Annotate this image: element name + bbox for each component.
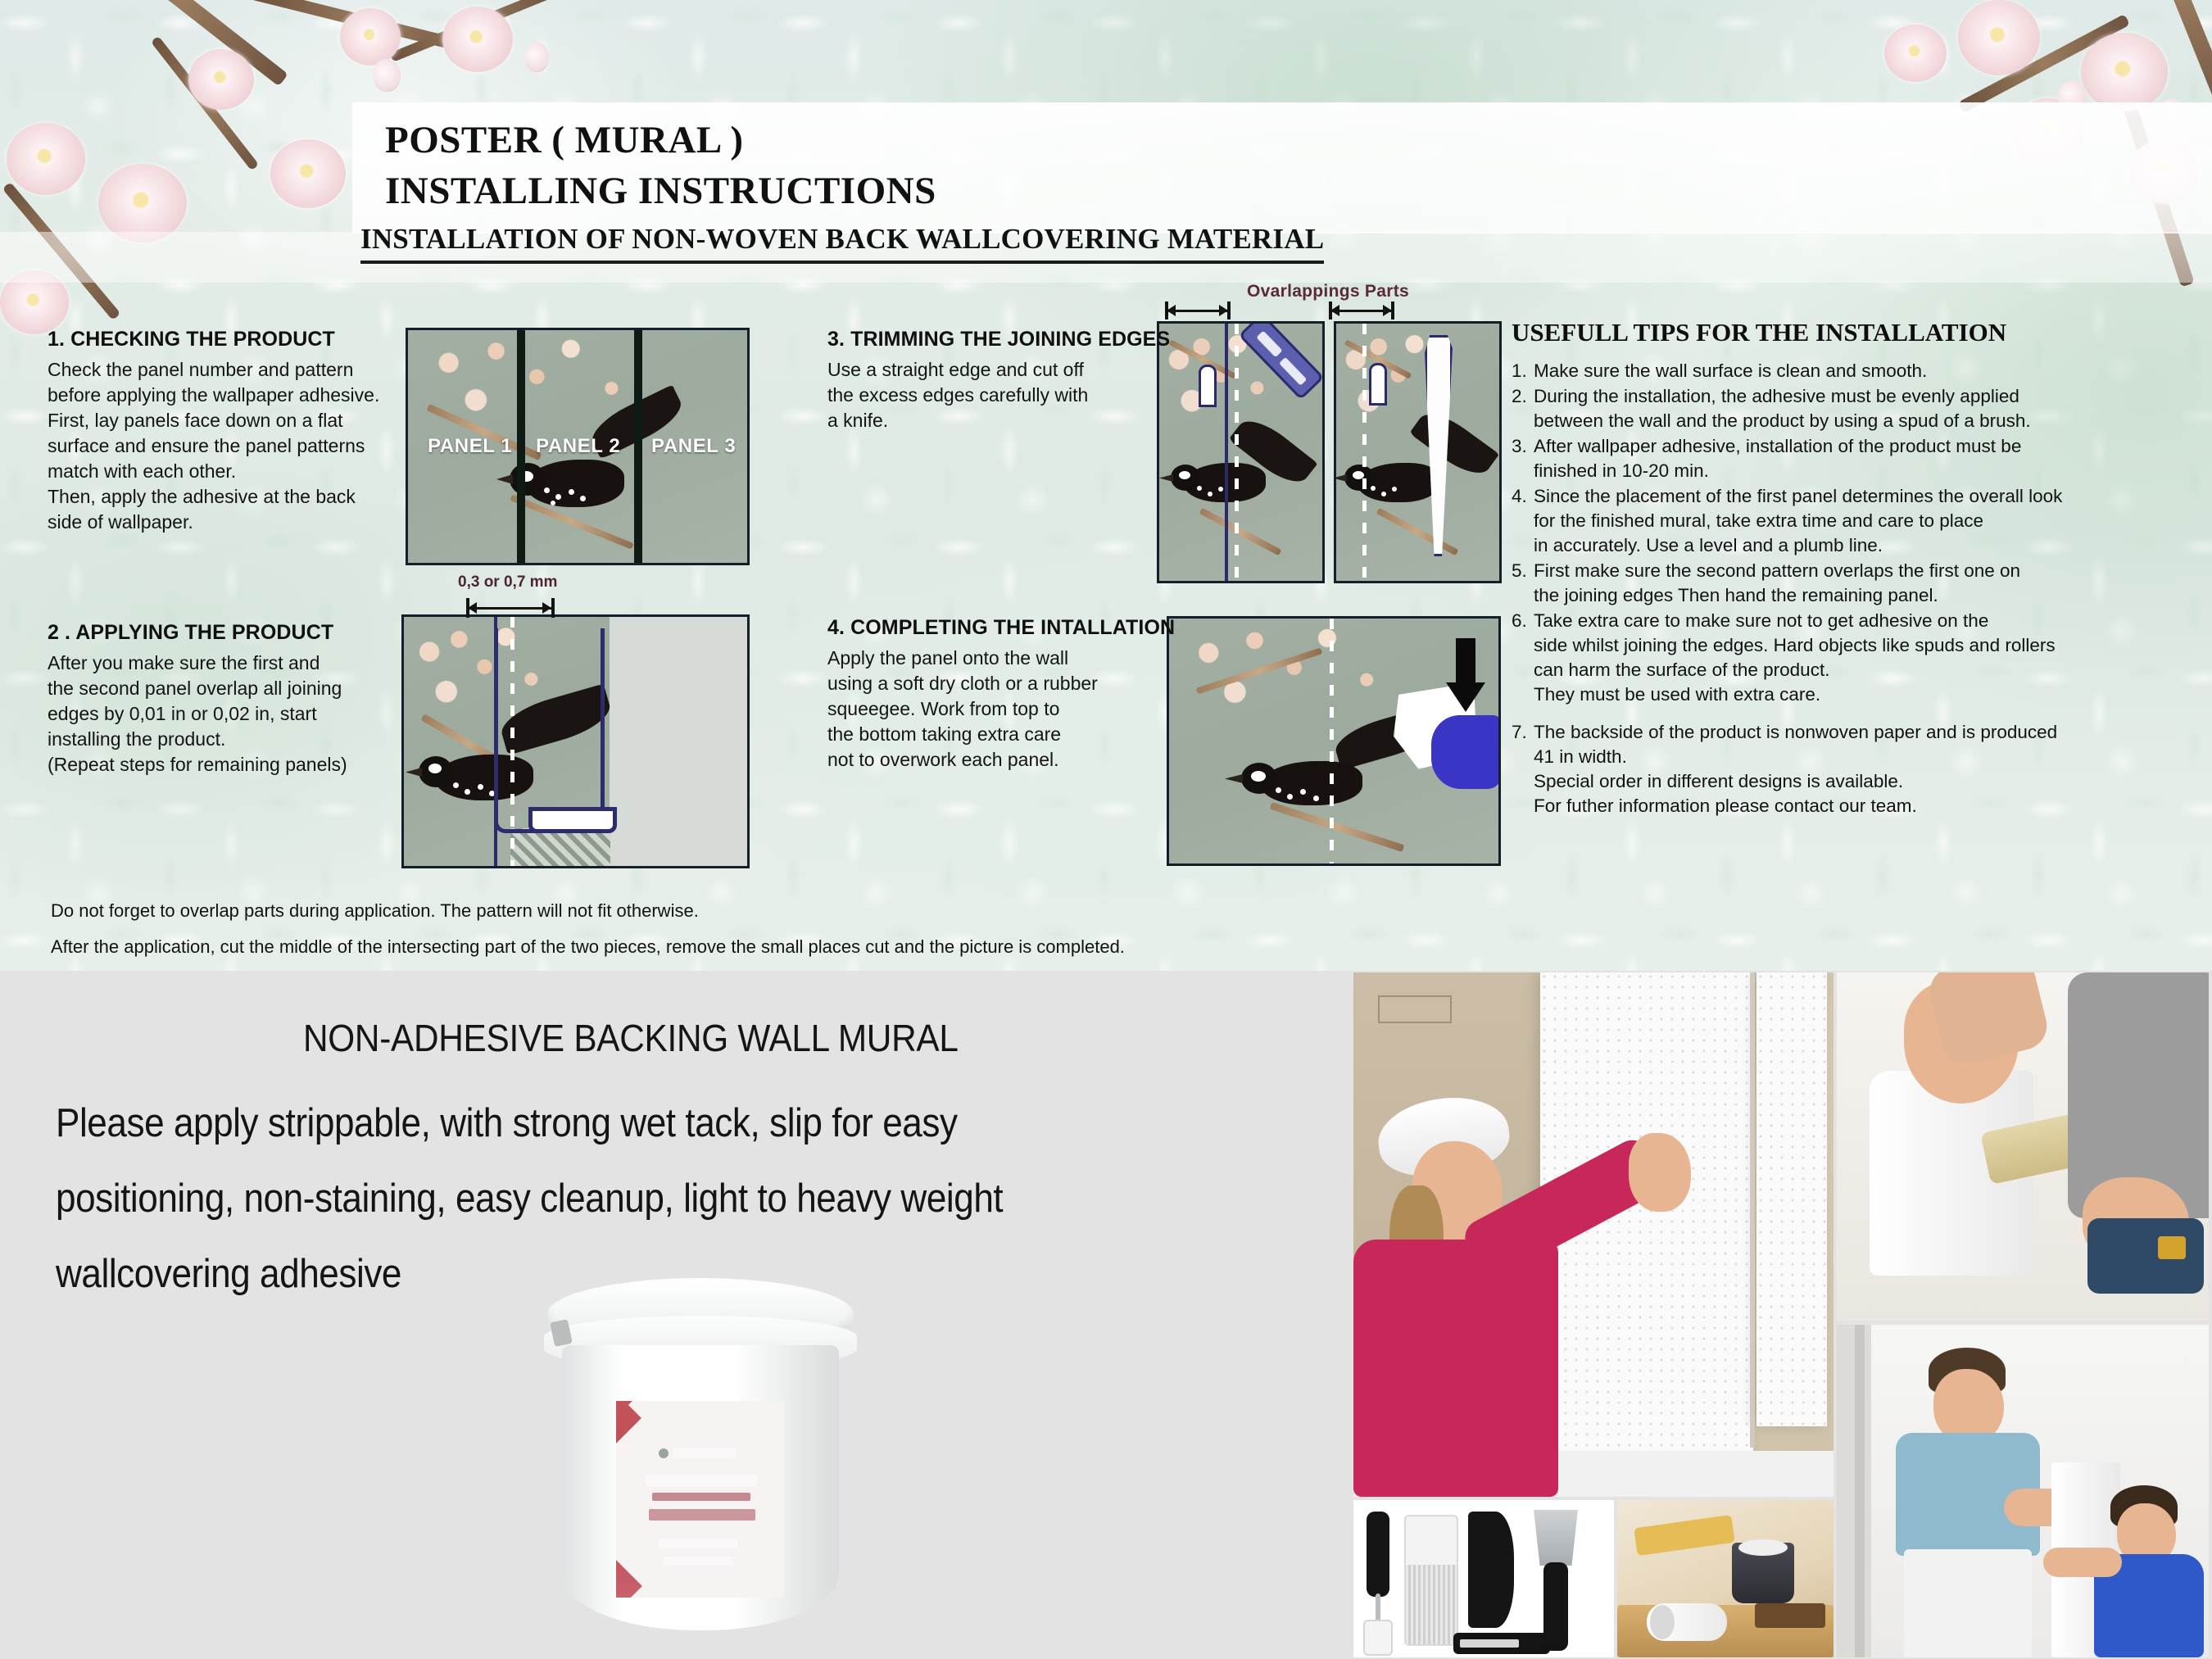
smoothing-brush-tool	[1404, 1515, 1458, 1646]
woman-installer	[1353, 1071, 1648, 1497]
step-1-text: 1. CHECKING THE PRODUCT Check the panel …	[48, 328, 400, 535]
step-1-line-3: First, lay panels face down on a flat	[48, 408, 400, 433]
title-line-1: POSTER ( MURAL )	[385, 115, 936, 165]
step-1-line-1: Check the panel number and pattern	[48, 357, 400, 383]
sheet-footer-notes: Do not forget to overlap parts during ap…	[51, 893, 1125, 965]
step-4-line-3: squeegee. Work from top to	[827, 696, 1155, 722]
tip-text: After wallpaper adhesive, installation o…	[1534, 434, 2118, 483]
tip-number: 2.	[1512, 384, 1534, 433]
step-3-line-3: a knife.	[827, 408, 1155, 433]
photo-wallpaper-supplies	[1617, 1500, 1834, 1657]
tip-line: the joining edges Then hand the remainin…	[1534, 583, 2118, 608]
overlap-dimension-annotation: 0,3 or 0,7 mm	[446, 573, 627, 631]
step-1-heading: 1. CHECKING THE PRODUCT	[48, 328, 400, 351]
step-4-line-1: Apply the panel onto the wall	[827, 646, 1155, 671]
tip-line: can harm the surface of the product.	[1534, 658, 2118, 682]
photo-woman-hanging-wallpaper	[1353, 972, 1834, 1497]
step-1-line-5: match with each other.	[48, 459, 400, 484]
installation-photo-collage	[1353, 972, 2209, 1657]
tip-text: During the installation, the adhesive mu…	[1534, 384, 2118, 433]
step-2-line-1: After you make sure the first and	[48, 650, 400, 676]
tip-number: 6.	[1512, 609, 1534, 707]
tip-text: Take extra care to make sure not to get …	[1534, 609, 2118, 707]
arrow-down-icon	[1446, 638, 1485, 714]
step-4-line-2: using a soft dry cloth or a rubber	[827, 671, 1155, 696]
footer-note-1: Do not forget to overlap parts during ap…	[51, 893, 1125, 929]
step-4-line-4: the bottom taking extra care	[827, 722, 1155, 747]
hand	[1629, 1133, 1691, 1212]
panel-3-label: PANEL 3	[651, 435, 736, 458]
bird-illustration	[1169, 446, 1325, 545]
pink-shirt	[1353, 1240, 1558, 1497]
nonwoven-paper-sheet-2	[1756, 972, 1827, 1426]
tip-line: Special order in different designs is av…	[1534, 769, 2118, 794]
tip-item: 2. During the installation, the adhesive…	[1512, 384, 2118, 433]
tip-text: Since the placement of the first panel d…	[1534, 484, 2118, 558]
tip-number: 7.	[1512, 720, 1534, 818]
step-2-line-4: installing the product.	[48, 727, 400, 752]
tip-line: between the wall and the product by usin…	[1534, 409, 2118, 433]
panel-1-label: PANEL 1	[428, 435, 512, 458]
tip-line: During the installation, the adhesive mu…	[1534, 384, 2118, 409]
seam-roller-tool	[1362, 1512, 1394, 1649]
tip-line: side whilst joining the edges. Hard obje…	[1534, 633, 2118, 658]
tip-item: 4. Since the placement of the first pane…	[1512, 484, 2118, 558]
step-4-text: 4. COMPLETING THE INTALLATION Apply the …	[827, 616, 1155, 773]
step-4-line-5: not to overwork each panel.	[827, 747, 1155, 773]
hatched-overlap-region	[510, 828, 610, 868]
tip-number: 4.	[1512, 484, 1534, 558]
step-1-line-2: before applying the wallpaper adhesive.	[48, 383, 400, 408]
title-line-2: INSTALLING INSTRUCTIONS	[385, 165, 936, 216]
tip-line: 41 in width.	[1534, 745, 2118, 769]
page-title: POSTER ( MURAL ) INSTALLING INSTRUCTIONS	[385, 115, 936, 216]
child-installer	[2083, 1485, 2205, 1657]
step-3-line-1: Use a straight edge and cut off	[827, 357, 1155, 383]
tip-item: 6. Take extra care to make sure not to g…	[1512, 609, 2118, 707]
gloved-hand-icon	[1431, 715, 1501, 789]
step-2-line-3: edges by 0,01 in or 0,02 in, start	[48, 701, 400, 727]
bird-illustration	[1344, 446, 1500, 545]
footer-note-2: After the application, cut the middle of…	[51, 929, 1125, 965]
step-2-diagram	[401, 614, 750, 868]
panel-2-label: PANEL 2	[536, 435, 620, 458]
adult-installer	[1881, 1348, 2078, 1657]
step-3-diagram-right	[1334, 321, 1502, 583]
overlap-dimension-label: 0,3 or 0,7 mm	[458, 573, 557, 592]
step-2-line-5: (Repeat steps for remaining panels)	[48, 752, 400, 777]
overlap-arrow-left	[1165, 300, 1280, 328]
tip-line: For futher information please contact ou…	[1534, 794, 2118, 818]
tip-number: 3.	[1512, 434, 1534, 483]
tip-line: After wallpaper adhesive, installation o…	[1534, 434, 2118, 459]
step-3-diagram-left	[1157, 321, 1325, 583]
straight-edge-tool	[1369, 363, 1387, 406]
panel-flap-lip	[528, 807, 617, 833]
plastic-smoother-tool	[1468, 1512, 1514, 1628]
tip-number: 1.	[1512, 359, 1534, 383]
description-line-1: Please apply strippable, with strong wet…	[56, 1086, 1206, 1161]
tip-line: Make sure the wall surface is clean and …	[1534, 359, 2118, 383]
step-2-text: 2 . APPLYING THE PRODUCT After you make …	[48, 621, 400, 777]
instruction-sheet: POSTER ( MURAL ) INSTALLING INSTRUCTIONS…	[0, 0, 2212, 971]
description-line-2: positioning, non-staining, easy cleanup,…	[56, 1161, 1206, 1236]
tip-text: The backside of the product is nonwoven …	[1534, 720, 2118, 818]
straight-edge-tool	[1199, 365, 1217, 407]
panel-flap-illustration	[494, 628, 605, 833]
tip-text: First make sure the second pattern overl…	[1534, 559, 2118, 608]
step-2-heading: 2 . APPLYING THE PRODUCT	[48, 621, 400, 645]
tip-item: 5. First make sure the second pattern ov…	[1512, 559, 2118, 608]
tip-item: 7. The backside of the product is nonwov…	[1512, 720, 2118, 818]
step-1-diagram: PANEL 1 PANEL 2 PANEL 3	[406, 328, 750, 565]
step-1-line-7: side of wallpaper.	[48, 510, 400, 535]
step-3-text: 3. TRIMMING THE JOINING EDGES Use a stra…	[827, 328, 1155, 433]
putty-scraper-tool	[1530, 1510, 1581, 1651]
tip-line: Since the placement of the first panel d…	[1534, 484, 2118, 509]
photo-tool-set	[1353, 1500, 1614, 1657]
adhesive-bucket-image	[541, 1278, 860, 1647]
overlapping-parts-label: Ovarlappings Parts	[1247, 282, 1409, 301]
tip-line: The backside of the product is nonwoven …	[1534, 720, 2118, 745]
step-1-line-4: surface and ensure the panel patterns	[48, 433, 400, 459]
tip-line: finished in 10-20 min.	[1534, 459, 2118, 483]
photo-two-installers	[1837, 1325, 2209, 1657]
tip-text: Make sure the wall surface is clean and …	[1534, 359, 2118, 383]
tip-line: They must be used with extra care.	[1534, 682, 2118, 707]
tip-line: for the finished mural, take extra time …	[1534, 509, 2118, 533]
step-4-heading: 4. COMPLETING THE INTALLATION	[827, 616, 1155, 640]
photo-roller-applying-paste	[1837, 972, 2209, 1321]
brush-on-table	[1755, 1603, 1825, 1628]
tip-line: Take extra care to make sure not to get …	[1534, 609, 2118, 633]
tip-item: 1. Make sure the wall surface is clean a…	[1512, 359, 2118, 383]
useful-tips-panel: USEFULL TIPS FOR THE INSTALLATION 1. Mak…	[1512, 318, 2118, 819]
step-4-diagram	[1167, 616, 1501, 866]
tip-number: 5.	[1512, 559, 1534, 608]
tips-heading: USEFULL TIPS FOR THE INSTALLATION	[1512, 318, 2118, 347]
tip-item: 3. After wallpaper adhesive, installatio…	[1512, 434, 2118, 483]
product-heading: NON-ADHESIVE BACKING WALL MURAL	[303, 1016, 959, 1060]
step-2-line-2: the second panel overlap all joining	[48, 676, 400, 701]
white-trousers	[1904, 1549, 2032, 1657]
product-description-section: NON-ADHESIVE BACKING WALL MURAL Please a…	[0, 971, 2212, 1659]
tips-list: 1. Make sure the wall surface is clean a…	[1512, 359, 2118, 818]
step-3-heading: 3. TRIMMING THE JOINING EDGES	[827, 328, 1155, 351]
overlap-arrow-right	[1329, 300, 1444, 328]
tip-line: First make sure the second pattern overl…	[1534, 559, 2118, 583]
page-subtitle: INSTALLATION OF NON-WOVEN BACK WALLCOVER…	[360, 223, 1324, 264]
tip-line: in accurately. Use a level and a plumb l…	[1534, 533, 2118, 558]
step-3-line-2: the excess edges carefully with	[827, 383, 1155, 408]
step-1-line-6: Then, apply the adhesive at the back	[48, 484, 400, 510]
bucket-label	[616, 1401, 784, 1598]
